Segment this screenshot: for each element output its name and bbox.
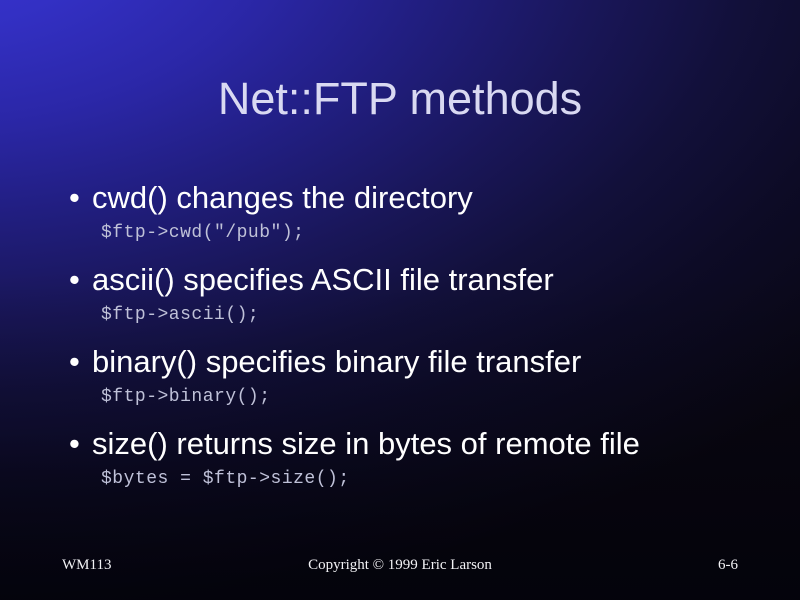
code-sample: $ftp->binary(); [101, 384, 762, 410]
bullet-label: binary() specifies binary file transfer [92, 342, 762, 382]
bullet-label: cwd() changes the directory [92, 178, 762, 218]
bullet-label: ascii() specifies ASCII file transfer [92, 260, 762, 300]
bullet-block: • ascii() specifies ASCII file transfer … [62, 260, 762, 328]
bullet-point-icon: • [62, 342, 92, 382]
code-sample: $bytes = $ftp->size(); [101, 466, 762, 492]
footer-copyright: Copyright © 1999 Eric Larson [0, 556, 800, 574]
bullet-point-icon: • [62, 260, 92, 300]
bullet-item: • ascii() specifies ASCII file transfer [62, 260, 762, 300]
bullet-item: • cwd() changes the directory [62, 178, 762, 218]
slide-body: • cwd() changes the directory $ftp->cwd(… [62, 178, 762, 506]
footer-page-number: 6-6 [718, 556, 738, 574]
bullet-item: • binary() specifies binary file transfe… [62, 342, 762, 382]
slide-footer: WM113 Copyright © 1999 Eric Larson 6-6 [0, 556, 800, 574]
bullet-block: • cwd() changes the directory $ftp->cwd(… [62, 178, 762, 246]
presentation-slide: Net::FTP methods • cwd() changes the dir… [0, 0, 800, 600]
slide-content: Net::FTP methods • cwd() changes the dir… [0, 0, 800, 600]
bullet-point-icon: • [62, 178, 92, 218]
bullet-block: • size() returns size in bytes of remote… [62, 424, 762, 492]
slide-title: Net::FTP methods [0, 72, 800, 126]
bullet-label: size() returns size in bytes of remote f… [92, 424, 762, 464]
bullet-point-icon: • [62, 424, 92, 464]
bullet-block: • binary() specifies binary file transfe… [62, 342, 762, 410]
bullet-item: • size() returns size in bytes of remote… [62, 424, 762, 464]
code-sample: $ftp->cwd("/pub"); [101, 220, 762, 246]
code-sample: $ftp->ascii(); [101, 302, 762, 328]
